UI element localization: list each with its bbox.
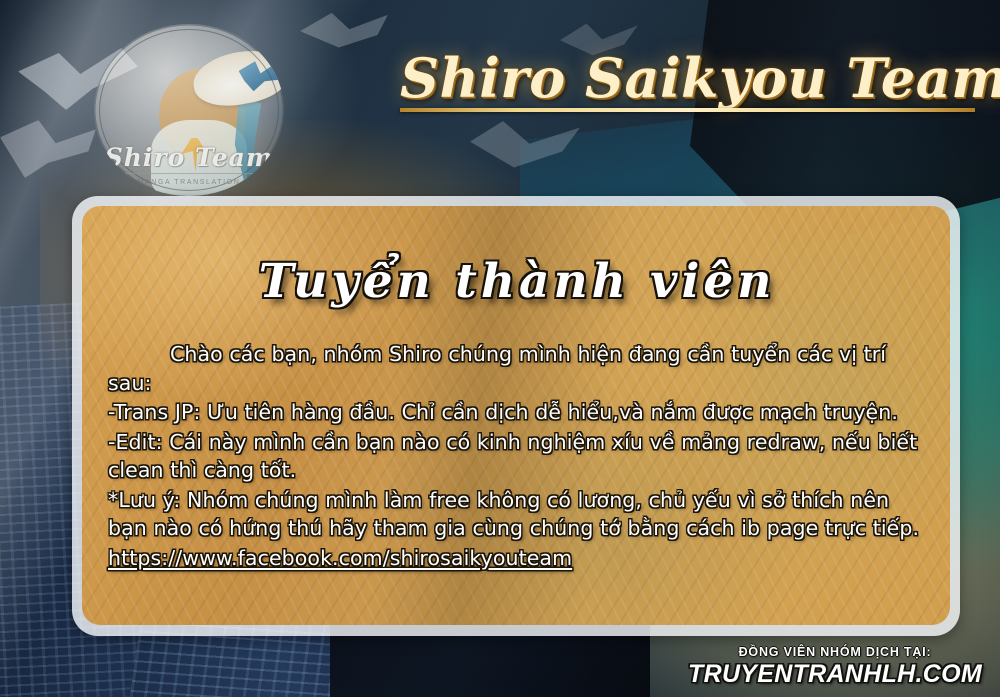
footer-credit: ĐỒNG VIÊN NHÓM DỊCH TẠI: TRUYENTRANHLH.C… [688,645,982,689]
footer-support-label: ĐỒNG VIÊN NHÓM DỊCH TẠI: [688,645,982,659]
recruitment-body: Chào các bạn, nhóm Shiro chúng mình hiện… [108,340,926,572]
team-logo-badge: Shiro Team MANGA TRANSLATION [94,24,284,196]
site-title: Shiro Saikyou Team [400,48,975,108]
logo-wordmark: Shiro Team [94,143,284,172]
content-panel: Tuyển thành viên Chào các bạn, nhóm Shir… [82,206,950,625]
footer-site-name[interactable]: TRUYENTRANHLH.COM [688,660,982,689]
logo-divider [124,173,254,174]
body-paragraph-trans-jp: -Trans JP: Ưu tiên hàng đầu. Chỉ cần dịc… [108,398,926,427]
logo-subtitle: MANGA TRANSLATION [94,179,284,186]
body-paragraph-greeting: Chào các bạn, nhóm Shiro chúng mình hiện… [108,340,926,397]
recruitment-headline: Tuyển thành viên [108,250,926,314]
facebook-page-link[interactable]: https://www.facebook.com/shirosaikyoutea… [108,544,926,573]
title-underline-rule [400,108,975,112]
poster-page: Shiro Team MANGA TRANSLATION Shiro Saiky… [0,0,1000,697]
body-paragraph-note: *Lưu ý: Nhóm chúng mình làm free không c… [108,486,926,543]
panel-content: Tuyển thành viên Chào các bạn, nhóm Shir… [82,206,950,625]
body-paragraph-edit: -Edit: Cái này mình cần bạn nào có kinh … [108,428,926,485]
